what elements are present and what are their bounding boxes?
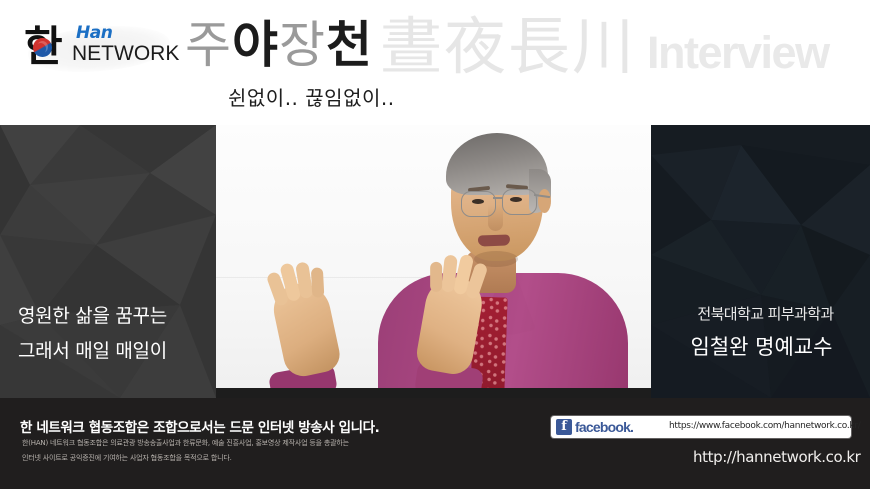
subject-ear <box>538 189 551 213</box>
hero-band: 영원한 삶을 꿈꾸는 그래서 매일 매일이 72살 청년의사 <box>0 125 870 398</box>
title-syllable-3: 장 <box>279 16 326 74</box>
right-name-panel: 전북대학교 피부과학과 임철완 명예교수 <box>651 125 870 398</box>
program-title-korean: 주야장천 <box>185 13 373 77</box>
facebook-link-badge[interactable]: f facebook. https://www.facebook.com/han… <box>551 416 851 438</box>
program-subtitle: 쉰없이.. 끊임없이.. <box>228 82 395 111</box>
taeguk-icon <box>33 38 52 57</box>
subject-name-title: 임철완 명예교수 <box>657 331 866 361</box>
subject-eye-left <box>472 199 484 204</box>
footer-bar: 한 네트워크 협동조합은 조합으로서는 드문 인터넷 방송사 입니다. 한(HA… <box>0 398 870 489</box>
photo-lower-letterbox <box>216 388 651 398</box>
footer-fineprint-line-2: 인터넷 사이트로 공익증진에 기여하는 사업자 협동조합을 목적으로 합니다. <box>22 453 232 463</box>
left-caption-line-1: 영원한 삶을 꿈꾸는 <box>18 301 167 328</box>
eyeglasses-bridge <box>493 197 503 199</box>
interview-thumbnail: 한 Han NETWORK 晝夜長川 Interview 주야장천 쉰없이.… <box>0 0 870 489</box>
facebook-wordmark: facebook. <box>575 419 633 435</box>
left-caption-line-2: 그래서 매일 매일이 <box>18 336 167 363</box>
facebook-url-text[interactable]: https://www.facebook.com/hannetwork.co.k… <box>669 421 860 431</box>
interview-subject-photo <box>216 125 651 398</box>
header-bar: 한 Han NETWORK 晝夜長川 Interview 주야장천 쉰없이.… <box>0 0 870 125</box>
title-syllable-2: 야 <box>232 15 279 74</box>
logo-han-wordmark: Han <box>76 23 112 43</box>
facebook-f-icon: f <box>556 419 572 435</box>
program-title-area: 晝夜長川 Interview 주야장천 <box>185 10 870 90</box>
subject-mouth <box>478 234 510 246</box>
subject-nose <box>488 205 503 231</box>
website-url[interactable]: http://hannetwork.co.kr <box>693 448 860 466</box>
left-caption-panel: 영원한 삶을 꿈꾸는 그래서 매일 매일이 72살 청년의사 <box>0 125 216 398</box>
title-syllable-4: 천 <box>326 15 373 74</box>
finger <box>311 267 325 298</box>
program-title-interview: Interview <box>647 27 829 79</box>
title-syllable-1: 주 <box>185 16 232 74</box>
subject-eye-right <box>510 197 522 202</box>
facebook-logo: f facebook. <box>556 419 633 435</box>
eyeglasses-lens-right <box>502 189 537 215</box>
footer-fineprint-line-1: 한(HAN) 네트워크 협동조합은 의료관광 방송송출사업과 한류문화, 예술 … <box>22 438 349 448</box>
subject-department: 전북대학교 피부과학과 <box>661 303 870 324</box>
logo-network-wordmark: NETWORK <box>72 42 179 66</box>
program-title-hanja: 晝夜長川 <box>380 12 636 82</box>
han-network-logo[interactable]: 한 Han NETWORK <box>22 22 172 74</box>
footer-headline: 한 네트워크 협동조합은 조합으로서는 드문 인터넷 방송사 입니다. <box>20 416 379 436</box>
finger <box>430 262 442 292</box>
